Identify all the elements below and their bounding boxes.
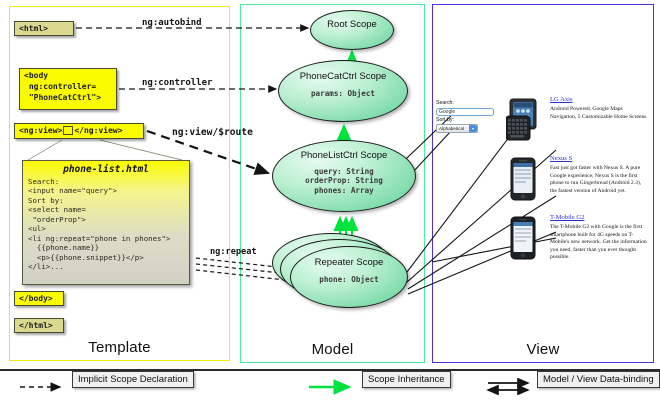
phone-name-link[interactable]: Nexus S	[550, 155, 648, 163]
list-item: LG Axis Android Powered, Google Maps Nav…	[506, 96, 648, 150]
edge-label-autobind: ng:autobind	[142, 18, 202, 28]
scope-phonelistctrl-title: PhoneListCtrl Scope	[273, 141, 415, 162]
phone-slider-thumbnail-icon	[506, 98, 540, 142]
list-item-text: Nexus S Fast just got faster with Nexus …	[550, 155, 648, 195]
sort-select-value: Alphabetical	[439, 126, 464, 131]
list-item-text: LG Axis Android Powered, Google Maps Nav…	[550, 96, 648, 121]
html-tag-box: <html>	[14, 21, 74, 36]
scope-root: Root Scope	[310, 10, 394, 50]
list-item-text: T-Mobile G2 The T-Mobile G2 with Google …	[550, 214, 648, 262]
legend: Implicit Scope Declaration Scope Inherit…	[0, 371, 660, 405]
scope-phonelistctrl-props: query: String orderProp: String phones: …	[273, 162, 415, 195]
legend-label-implicit-scope: Implicit Scope Declaration	[72, 371, 194, 388]
search-label: Search:	[436, 100, 498, 107]
ngview-slot-icon	[63, 126, 73, 135]
ngview-tag-box: <ng:view></ng:view>	[14, 123, 144, 139]
legend-label-data-binding: Model / View Data-binding	[537, 371, 660, 388]
panel-template-label: Template	[10, 339, 229, 356]
scope-phonecatctrl: PhoneCatCtrl Scope params: Object	[278, 60, 408, 122]
ngview-close-label: </ng:view>	[74, 126, 122, 135]
phone-bar-thumbnail-icon	[506, 216, 540, 260]
edge-label-ngrepeat: ng:repeat	[210, 247, 257, 257]
view-search-form: Search: Google Sort by: Alphabetical ▾	[436, 100, 498, 133]
scope-repeater-props: phone: Object	[291, 269, 407, 284]
scope-phonecatctrl-props: params: Object	[279, 83, 407, 98]
phone-snippet: Android Powered, Google Maps Navigation,…	[550, 106, 648, 121]
list-item: T-Mobile G2 The T-Mobile G2 with Google …	[506, 214, 648, 268]
scope-phonelistctrl: PhoneListCtrl Scope query: String orderP…	[272, 140, 416, 212]
scope-repeater: Repeater Scope phone: Object	[290, 246, 408, 308]
end-body-tag-box: </body>	[14, 291, 64, 306]
phone-name-link[interactable]: T-Mobile G2	[550, 214, 648, 222]
green-arrow-icon	[307, 378, 359, 395]
phone-bar-thumbnail-icon	[506, 157, 540, 201]
legend-label-scope-inheritance: Scope Inheritance	[362, 371, 451, 388]
edge-label-controller: ng:controller	[142, 78, 212, 88]
code-card-filename: phone-list.html	[23, 161, 189, 177]
phone-list: LG Axis Android Powered, Google Maps Nav…	[506, 96, 648, 273]
search-input[interactable]: Google	[436, 108, 494, 116]
sort-select[interactable]: Alphabetical ▾	[436, 124, 478, 133]
phone-name-link[interactable]: LG Axis	[550, 96, 648, 104]
double-arrow-icon	[480, 378, 535, 395]
scope-root-title: Root Scope	[311, 11, 393, 31]
chevron-down-icon: ▾	[469, 125, 477, 132]
list-item: Nexus S Fast just got faster with Nexus …	[506, 155, 648, 209]
panel-model-label: Model	[241, 341, 424, 358]
body-tag-box: <body ng:controller= "PhoneCatCtrl">	[19, 68, 117, 110]
edge-label-ngview-route: ng:view/$route	[172, 127, 253, 138]
end-html-tag-box: </html>	[14, 318, 64, 333]
sort-label: Sort by:	[436, 117, 498, 124]
scope-phonecatctrl-title: PhoneCatCtrl Scope	[279, 61, 407, 83]
architecture-diagram: Template Model View	[0, 0, 660, 405]
ngview-open-label: <ng:view>	[19, 126, 62, 135]
code-card-source: Search: <input name="query"> Sort by: <s…	[23, 177, 189, 272]
panel-view-label: View	[433, 341, 653, 358]
diagram-stage: Template Model View	[0, 0, 660, 371]
phone-snippet: Fast just got faster with Nexus S. A pur…	[550, 165, 648, 195]
scope-repeater-title: Repeater Scope	[291, 247, 407, 269]
dashed-arrow-icon	[18, 378, 68, 395]
phone-snippet: The T-Mobile G2 with Google is the first…	[550, 224, 648, 261]
code-card-phone-list: phone-list.html Search: <input name="que…	[22, 160, 190, 285]
